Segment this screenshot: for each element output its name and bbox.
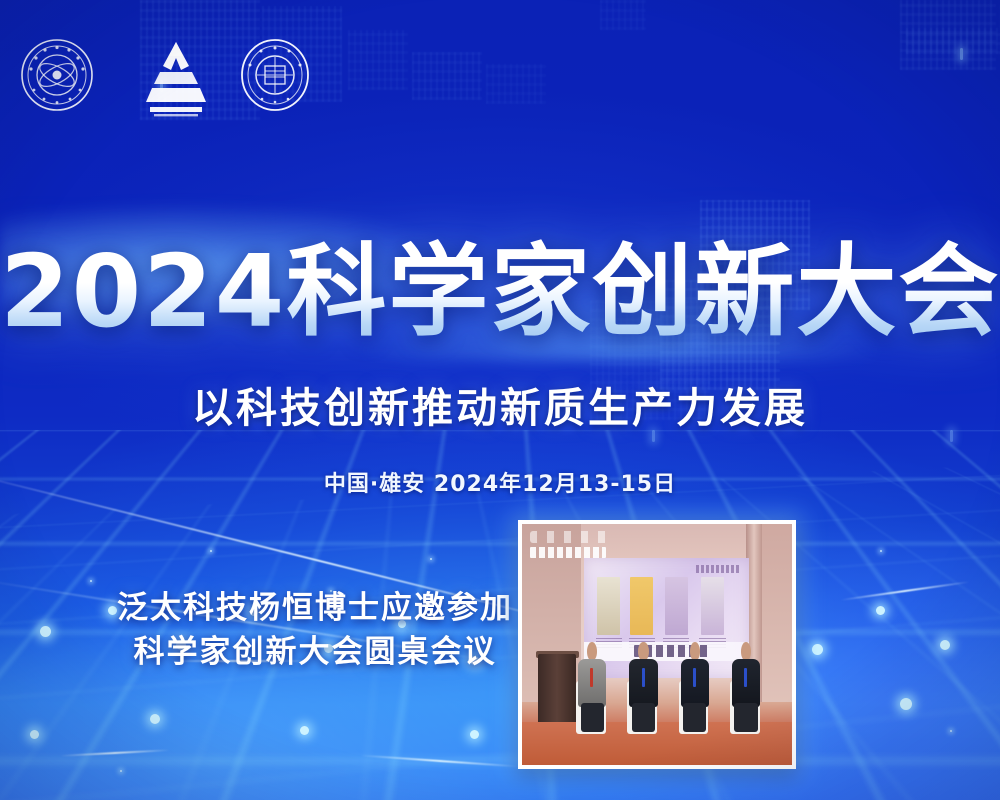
- logo-triangle-emblem: [136, 36, 216, 120]
- photo-panelist-badge: [642, 668, 645, 687]
- logo-group: [12, 30, 312, 120]
- caption-block: 泛太科技杨恒博士应邀参加 科学家创新大会圆桌会议: [110, 586, 520, 674]
- photo-portrait-3: [665, 577, 688, 635]
- photo-projection-screen: [584, 558, 749, 679]
- event-location-date: 中国·雄安 2024年12月13-15日: [0, 470, 1000, 500]
- photo-portrait-1: [597, 577, 620, 635]
- page-title: 2024科学家创新大会: [0, 236, 1000, 348]
- photo-panelist-3: [679, 642, 711, 729]
- photo-stage-top-icons: [530, 531, 611, 543]
- caption-line-1: 泛太科技杨恒博士应邀参加: [110, 586, 520, 630]
- photo-panelist-4: [730, 642, 762, 729]
- photo-panelist-1: [576, 642, 608, 729]
- logo-institute-emblem: [240, 38, 310, 112]
- photo-portrait-4: [701, 577, 724, 635]
- photo-panelist-badge: [693, 668, 696, 687]
- logo-cast-emblem: [20, 38, 94, 112]
- photo-panelist-legs: [581, 703, 604, 732]
- photo-portrait-2: [630, 577, 653, 635]
- photo-panelist-legs: [683, 703, 706, 732]
- caption-line-2: 科学家创新大会圆桌会议: [110, 630, 520, 674]
- conference-poster: 2024科学家创新大会 以科技创新推动新质生产力发展 中国·雄安 2024年12…: [0, 0, 1000, 800]
- photo-panelist-2: [627, 642, 659, 729]
- photo-content: [522, 524, 792, 765]
- photo-panelist-badge: [590, 668, 593, 687]
- roundtable-panel-photo: [518, 520, 796, 769]
- photo-screen-header: [696, 565, 739, 573]
- photo-stage-top-title: [530, 547, 606, 558]
- photo-panelist-legs: [632, 703, 655, 732]
- page-subtitle: 以科技创新推动新质生产力发展: [0, 382, 1000, 434]
- photo-panelist-badge: [744, 668, 747, 687]
- photo-panelist-legs: [734, 703, 757, 732]
